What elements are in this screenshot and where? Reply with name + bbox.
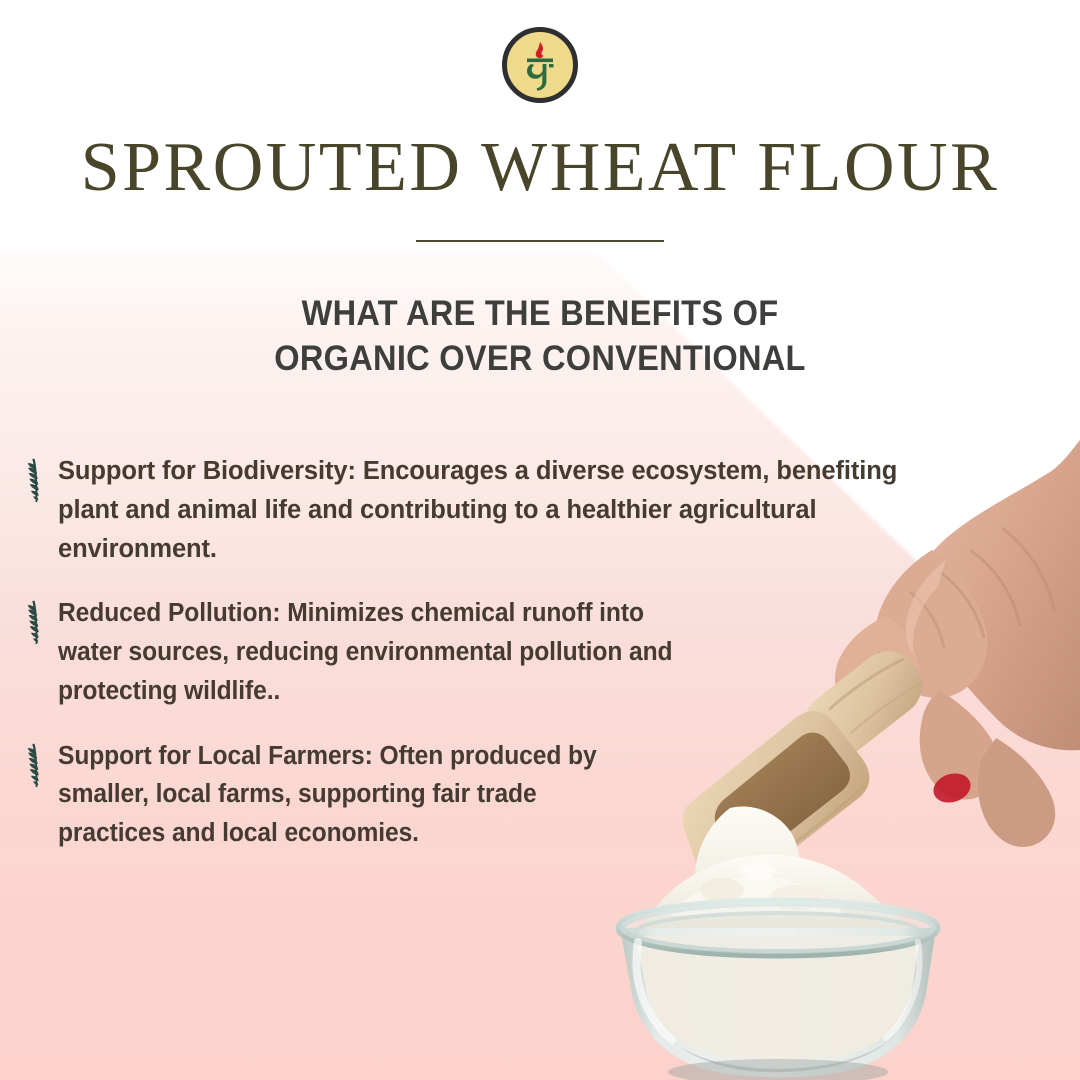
list-item: Reduced Pollution: Minimizes chemical ru… [14, 594, 1014, 710]
bullet-line: smaller, local farms, supporting fair tr… [58, 775, 597, 814]
benefits-list: Support for Biodiversity: Encourages a d… [14, 452, 1014, 879]
bullet-line: Support for Local Farmers: Often produce… [58, 737, 597, 776]
logo-circle [502, 27, 578, 103]
list-item: Support for Local Farmers: Often produce… [14, 737, 1014, 853]
wheat-stalk-icon [14, 452, 58, 504]
sub-heading-line-1: WHAT ARE THE BENEFITS OF [38, 292, 1042, 337]
sub-heading: WHAT ARE THE BENEFITS OF ORGANIC OVER CO… [38, 292, 1042, 382]
logo-glyph-icon [511, 36, 569, 94]
bullet-line: plant and animal life and contributing t… [58, 491, 897, 530]
bullet-line: protecting wildlife.. [58, 672, 672, 711]
bullet-line: environment. [58, 530, 897, 569]
wheat-stalk-icon [14, 594, 58, 646]
bullet-line: practices and local economies. [58, 814, 597, 853]
page-title: SPROUTED WHEAT FLOUR [0, 133, 1080, 203]
bullet-line: Reduced Pollution: Minimizes chemical ru… [58, 594, 672, 633]
title-divider [0, 240, 1080, 242]
bullet-line: water sources, reducing environmental po… [58, 633, 672, 672]
list-item-text: Support for Biodiversity: Encourages a d… [58, 452, 897, 568]
divider-line [416, 240, 664, 242]
poster-canvas: SPROUTED WHEAT FLOUR WHAT ARE THE BENEFI… [0, 0, 1080, 1080]
sub-heading-line-2: ORGANIC OVER CONVENTIONAL [38, 337, 1042, 382]
list-item-text: Reduced Pollution: Minimizes chemical ru… [58, 594, 672, 710]
bullet-line: Support for Biodiversity: Encourages a d… [58, 452, 897, 491]
list-item-text: Support for Local Farmers: Often produce… [58, 737, 597, 853]
brand-logo [0, 27, 1080, 103]
list-item: Support for Biodiversity: Encourages a d… [14, 452, 1014, 568]
wheat-stalk-icon [14, 737, 58, 789]
